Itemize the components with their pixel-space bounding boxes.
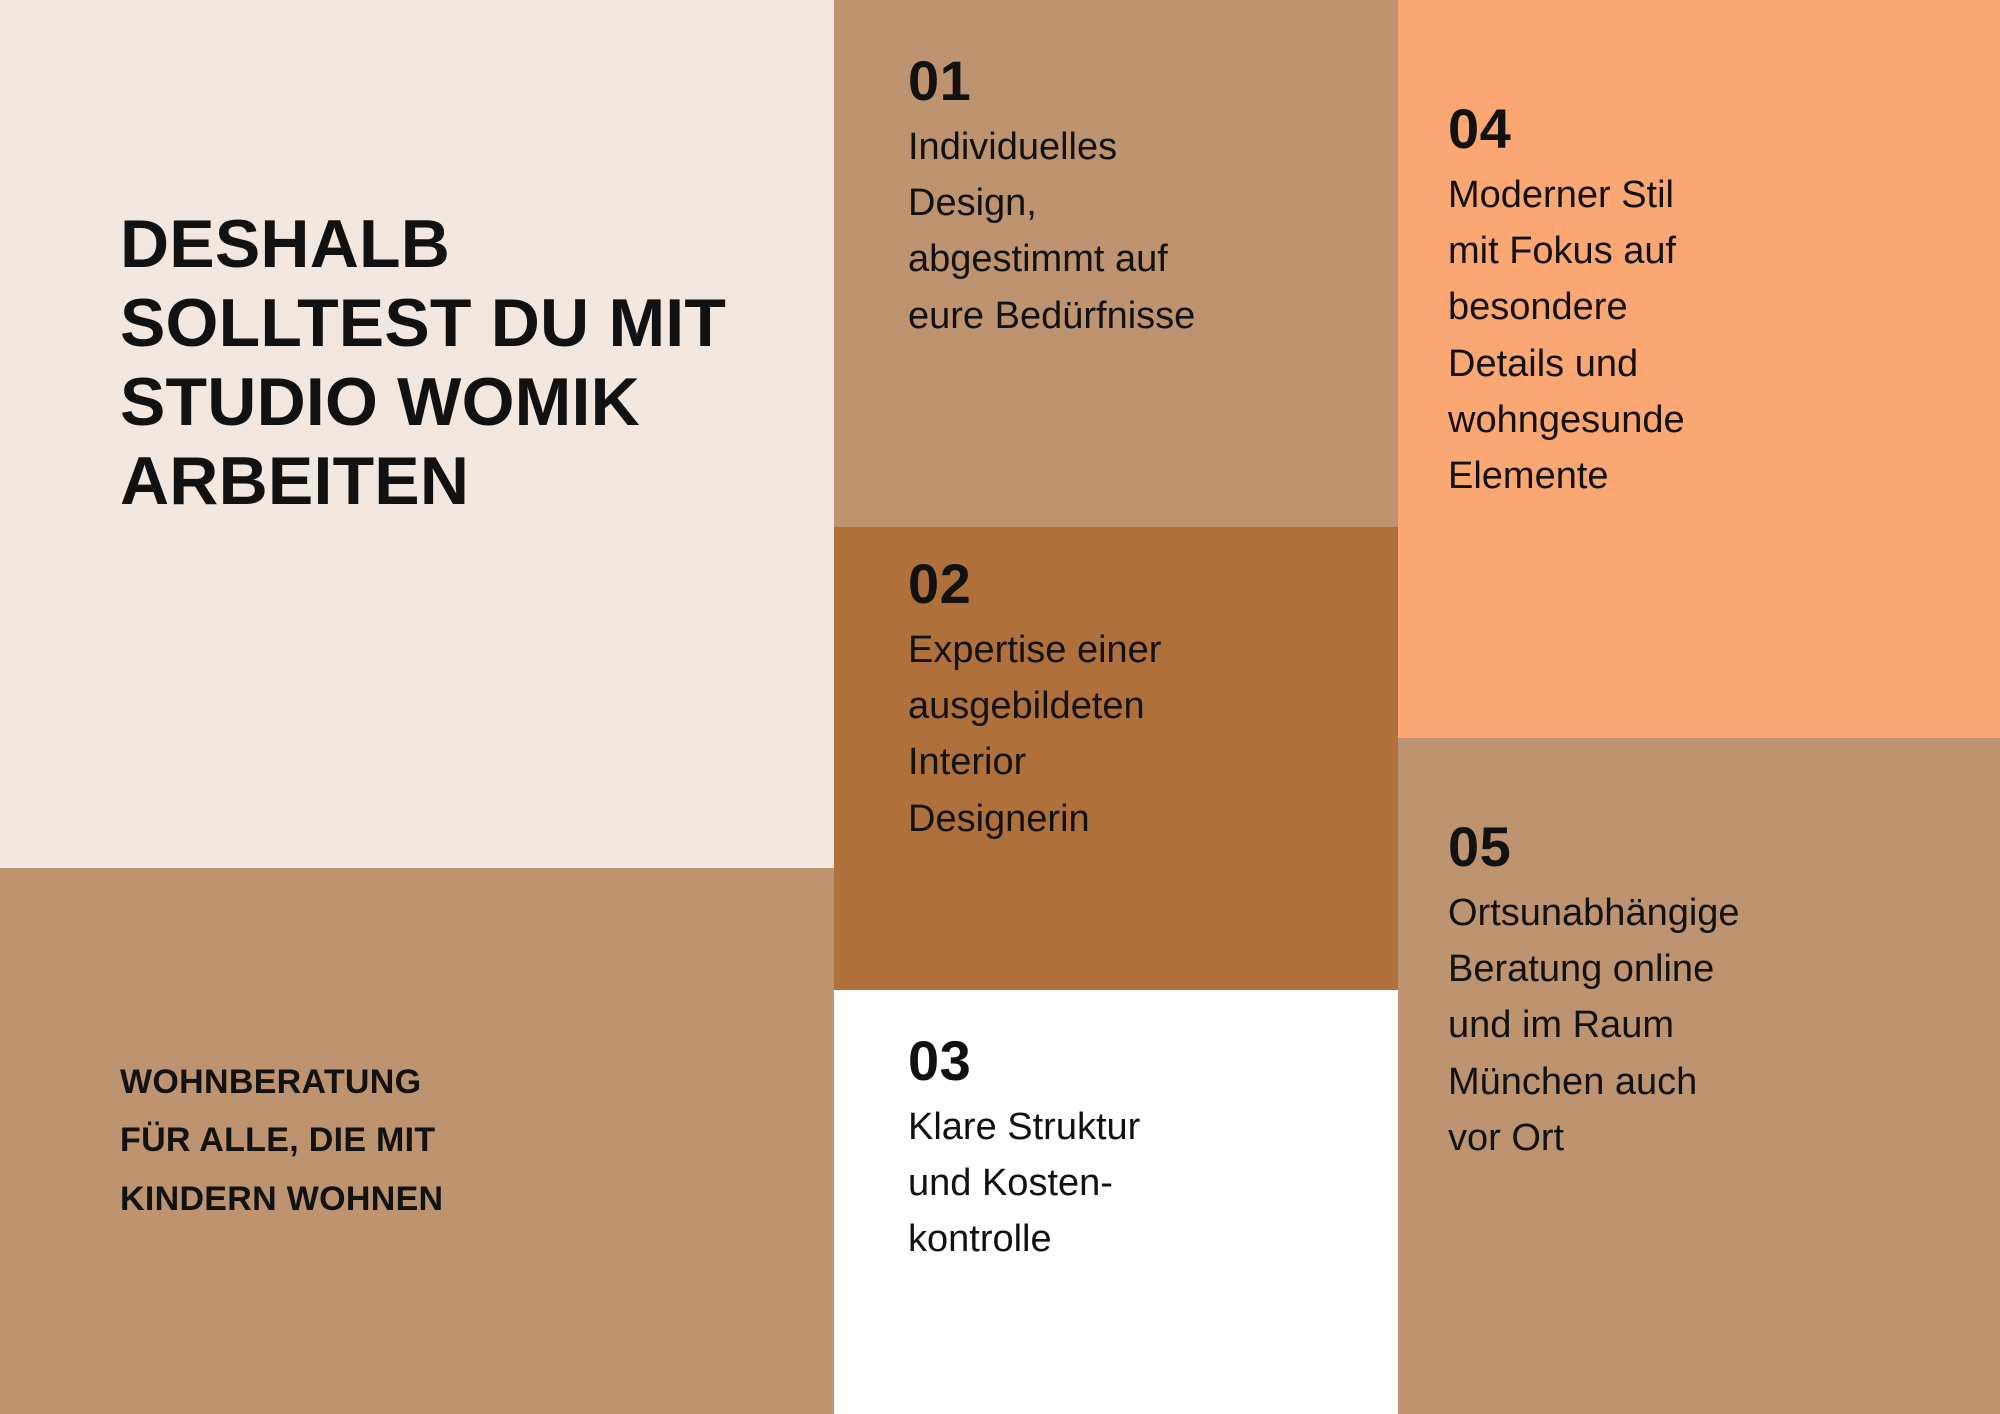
benefit-text-02: Expertise einer ausgebildeten Interior D… — [908, 622, 1268, 847]
benefit-card-04: 04 Moderner Stil mit Fokus auf besondere… — [1398, 0, 2000, 738]
benefit-content-02: 02 Expertise einer ausgebildeten Interio… — [908, 555, 1268, 847]
benefit-content-03: 03 Klare Struktur und Kosten- kontrolle — [908, 1032, 1268, 1268]
tagline-panel: Wohnberatung für alle, die mit Kindern w… — [0, 868, 834, 1414]
benefit-card-02: 02 Expertise einer ausgebildeten Interio… — [834, 527, 1398, 990]
benefit-text-01: Individuelles Design, abgestimmt auf eur… — [908, 119, 1268, 344]
benefit-card-01: 01 Individuelles Design, abgestimmt auf … — [834, 0, 1398, 527]
benefit-number-03: 03 — [908, 1032, 1268, 1091]
benefit-card-05: 05 Ortsunabhängige Beratung online und i… — [1398, 738, 2000, 1414]
benefit-number-04: 04 — [1448, 100, 1848, 159]
benefit-content-05: 05 Ortsunabhängige Beratung online und i… — [1448, 818, 1848, 1166]
benefit-content-01: 01 Individuelles Design, abgestimmt auf … — [908, 52, 1268, 344]
benefit-number-02: 02 — [908, 555, 1268, 614]
tagline-text: Wohnberatung für alle, die mit Kindern w… — [120, 1053, 760, 1228]
benefit-text-03: Klare Struktur und Kosten- kontrolle — [908, 1099, 1268, 1268]
benefit-text-04: Moderner Stil mit Fokus auf besondere De… — [1448, 167, 1848, 504]
benefit-number-05: 05 — [1448, 818, 1848, 877]
poster-canvas: Deshalb solltest du mit Studio Womik arb… — [0, 0, 2000, 1414]
benefit-number-01: 01 — [908, 52, 1268, 111]
benefit-card-03: 03 Klare Struktur und Kosten- kontrolle — [834, 990, 1398, 1414]
page-title: Deshalb solltest du mit Studio Womik arb… — [120, 205, 780, 521]
benefit-content-04: 04 Moderner Stil mit Fokus auf besondere… — [1448, 100, 1848, 504]
benefit-text-05: Ortsunabhängige Beratung online und im R… — [1448, 885, 1848, 1166]
headline-panel: Deshalb solltest du mit Studio Womik arb… — [0, 0, 834, 868]
